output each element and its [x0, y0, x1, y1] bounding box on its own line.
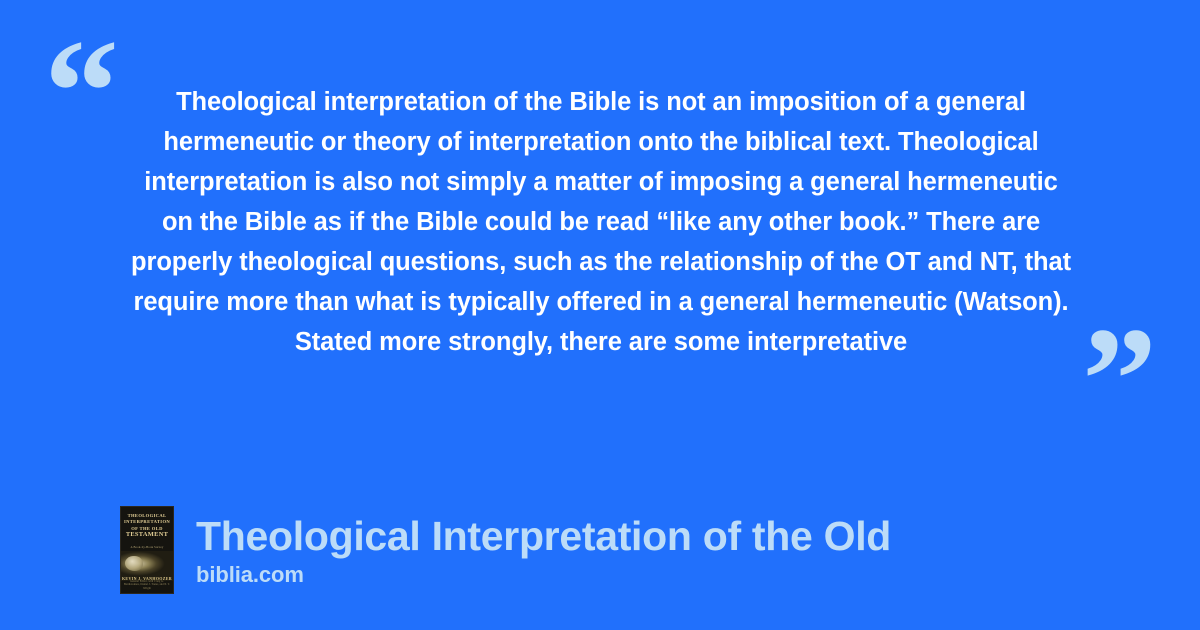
book-cover-thumbnail[interactable]: Theological Interpretation of the Old Te…: [120, 506, 174, 594]
book-cover-subtitle: A Book-by-Book Survey: [121, 545, 173, 549]
opening-quote-icon: “: [44, 17, 119, 167]
resource-title[interactable]: Theological Interpretation of the Old: [196, 513, 891, 559]
book-cover-editors: General Editor, with Craig G. Bartholome…: [121, 580, 173, 590]
site-name[interactable]: biblia.com: [196, 562, 891, 588]
closing-quote-icon: ”: [1082, 305, 1157, 455]
book-cover-title-line-2: Interpretation: [124, 519, 170, 524]
footer: Theological Interpretation of the Old Te…: [120, 506, 891, 594]
book-cover-title: Theological Interpretation of the Old Te…: [121, 513, 173, 539]
book-cover-title-line-1: Theological: [128, 513, 167, 518]
book-cover-title-line-3: of the Old: [131, 526, 163, 531]
book-cover-title-line-4: Testament: [126, 531, 168, 538]
quote-card: “ Theological interpretation of the Bibl…: [0, 0, 1200, 630]
footer-text-block: Theological Interpretation of the Old bi…: [196, 513, 891, 588]
quote-text: Theological interpretation of the Bible …: [126, 82, 1076, 362]
